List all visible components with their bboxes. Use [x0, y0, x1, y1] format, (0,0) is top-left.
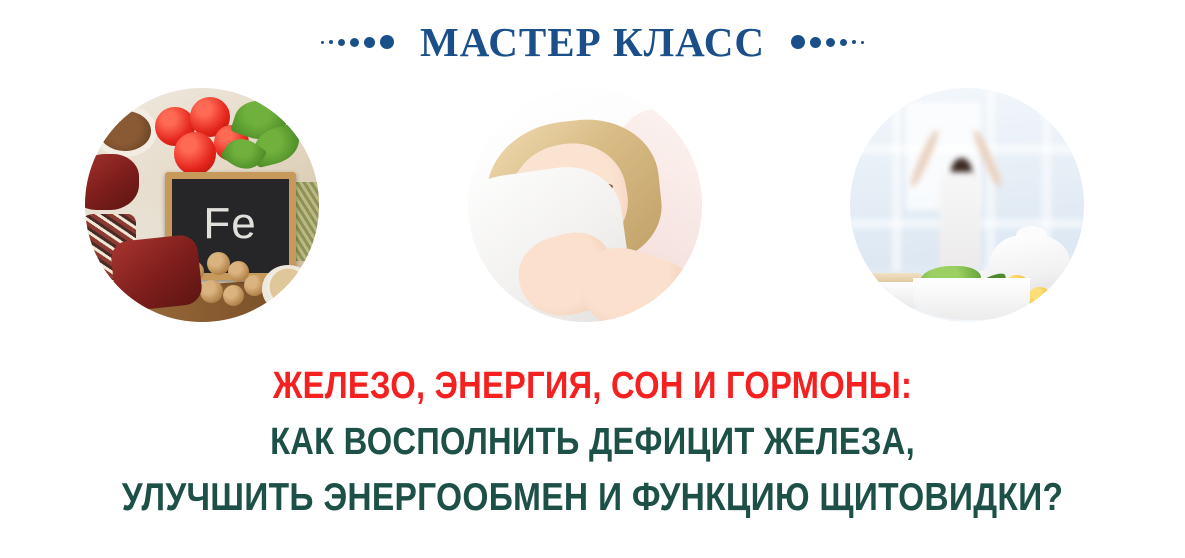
headline-line-1: ЖЕЛЕЗО, ЭНЕРГИЯ, СОН И ГОРМОНЫ:: [83, 358, 1102, 414]
photo-row: Fe: [0, 88, 1185, 322]
chalkboard-label: Fe: [203, 199, 256, 249]
headline-block: ЖЕЛЕЗО, ЭНЕРГИЯ, СОН И ГОРМОНЫ: КАК ВОСП…: [0, 358, 1185, 526]
banner-header: МАСТЕР КЛАСС: [0, 14, 1185, 70]
photo-sleeping-woman: [468, 88, 702, 322]
iron-foods-illustration: Fe: [85, 88, 319, 322]
banner-title: МАСТЕР КЛАСС: [408, 22, 777, 63]
ornament-dots-right-icon: [791, 35, 864, 49]
energetic-morning-illustration: [850, 88, 1084, 322]
sleeping-woman-illustration: [468, 88, 702, 322]
headline-line-3: УЛУЧШИТЬ ЭНЕРГООБМЕН И ФУНКЦИЮ ЩИТОВИДКИ…: [83, 470, 1102, 526]
photo-energetic-morning: [850, 88, 1084, 322]
photo-iron-rich-foods: Fe: [85, 88, 319, 322]
ornament-dots-left-icon: [321, 35, 394, 49]
masterclass-banner: МАСТЕР КЛАСС: [0, 0, 1185, 558]
headline-line-2: КАК ВОСПОЛНИТЬ ДЕФИЦИТ ЖЕЛЕЗА,: [83, 414, 1102, 470]
